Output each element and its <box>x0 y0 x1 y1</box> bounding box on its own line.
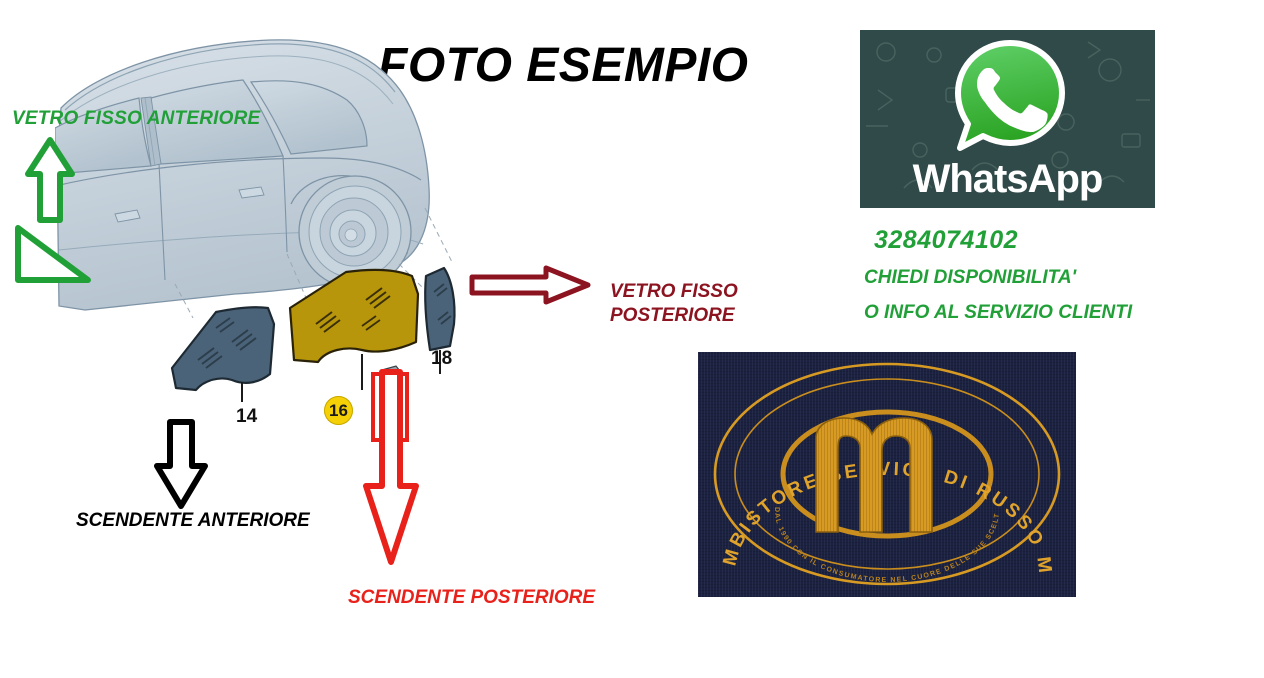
shop-logo-photo: MRICAMBISTORE SERVICE DI RUSSO MARCO DAL… <box>698 352 1076 597</box>
whatsapp-banner: WhatsApp <box>860 30 1155 208</box>
part-number-14: 14 <box>236 406 257 428</box>
label-line-2: POSTERIORE <box>610 304 738 328</box>
part-number-16-badge: 16 <box>324 396 353 425</box>
label-line-1: VETRO FISSO <box>610 280 738 304</box>
phone-number: 3284074102 <box>874 226 1018 255</box>
part-number-18: 18 <box>431 348 452 370</box>
label-vetro-fisso-posteriore: VETRO FISSO POSTERIORE <box>610 280 738 328</box>
part-14-front-drop-glass <box>172 307 274 390</box>
whatsapp-wordmark: WhatsApp <box>860 157 1155 202</box>
arrow-right-icon-darkred <box>468 265 593 305</box>
arrow-up-icon-green <box>10 130 100 285</box>
diagram-canvas: FOTO ESEMPIO <box>0 0 1264 678</box>
whatsapp-phone-icon <box>948 38 1068 156</box>
part-18-quarter-glass <box>425 268 454 350</box>
label-scendente-posteriore: SCENDENTE POSTERIORE <box>348 587 595 609</box>
label-scendente-anteriore: SCENDENTE ANTERIORE <box>76 510 310 532</box>
shop-logo-graphic: MRICAMBISTORE SERVICE DI RUSSO MARCO DAL… <box>698 352 1076 597</box>
arrow-down-icon-black <box>150 418 212 510</box>
part-16-rear-drop-glass <box>290 270 418 362</box>
label-vetro-fisso-anteriore: VETRO FISSO ANTERIORE <box>12 108 260 130</box>
logo-monogram <box>816 418 932 532</box>
arrow-down-icon-red <box>360 368 422 568</box>
availability-line-2: O INFO AL SERVIZIO CLIENTI <box>864 302 1132 324</box>
availability-line-1: CHIEDI DISPONIBILITA' <box>864 267 1076 289</box>
